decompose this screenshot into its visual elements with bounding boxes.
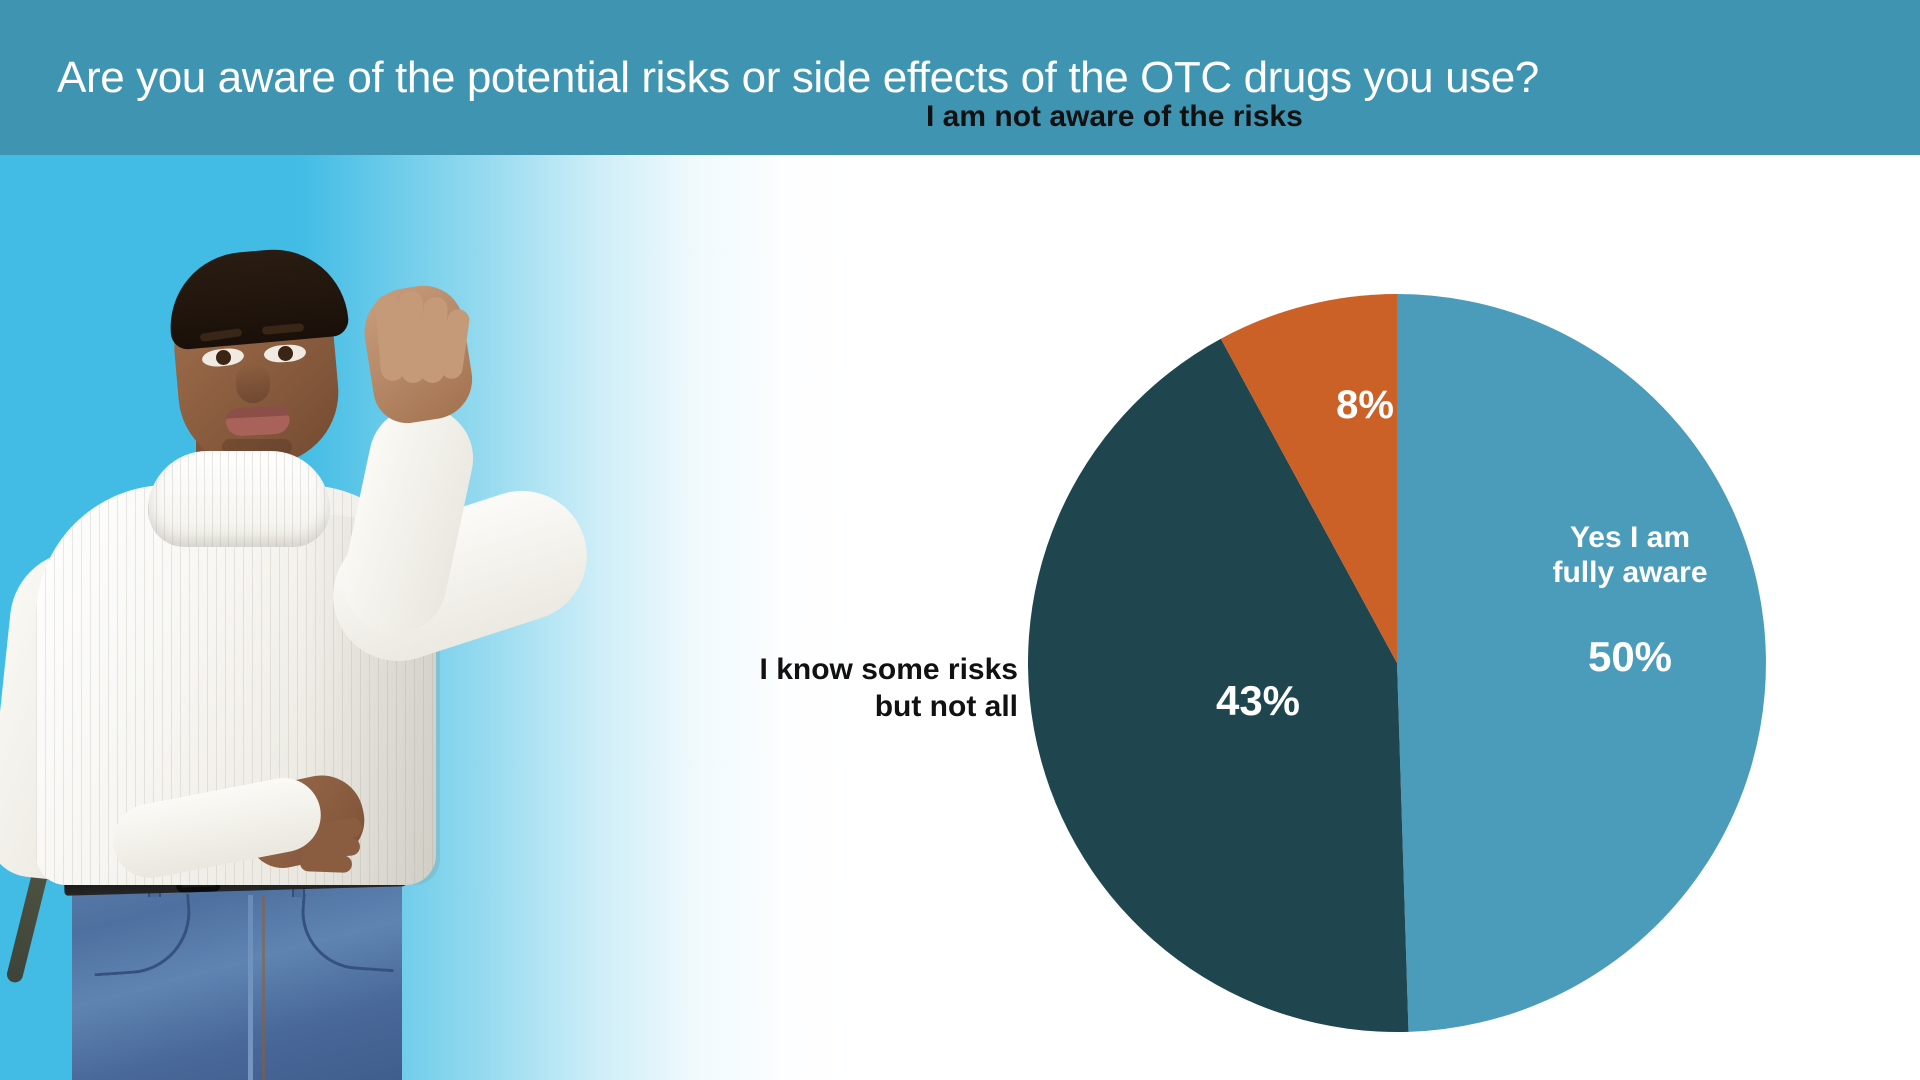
finger bbox=[300, 854, 353, 873]
jeans-seam bbox=[248, 895, 253, 1080]
collar-ribbing bbox=[148, 451, 330, 547]
iris-left bbox=[216, 350, 231, 365]
slice-value-yes-fully-aware: 50% bbox=[1520, 632, 1740, 682]
woman-photo-illustration bbox=[0, 155, 700, 1080]
slice-label-some-risks: I know some risks but not all bbox=[618, 652, 1018, 725]
slice-value-some-risks: 43% bbox=[1178, 676, 1338, 726]
nose bbox=[236, 363, 270, 403]
page-title: Are you aware of the potential risks or … bbox=[0, 53, 1539, 103]
slice-label-not-aware: I am not aware of the risks bbox=[926, 99, 1446, 136]
slice-label-yes-fully-aware: Yes I am fully aware bbox=[1520, 520, 1740, 591]
photo-panel bbox=[0, 155, 1000, 1080]
content-area: Yes I am fully aware 50% 43% 8% I am not… bbox=[0, 155, 1920, 1080]
slice-value-not-aware: 8% bbox=[1300, 382, 1430, 429]
jeans-stitch bbox=[262, 895, 265, 1080]
iris-right bbox=[278, 346, 293, 361]
pie-chart: Yes I am fully aware 50% 43% 8% I am not… bbox=[1028, 294, 1766, 1032]
pie-chart-area: Yes I am fully aware 50% 43% 8% I am not… bbox=[1000, 155, 1920, 1080]
